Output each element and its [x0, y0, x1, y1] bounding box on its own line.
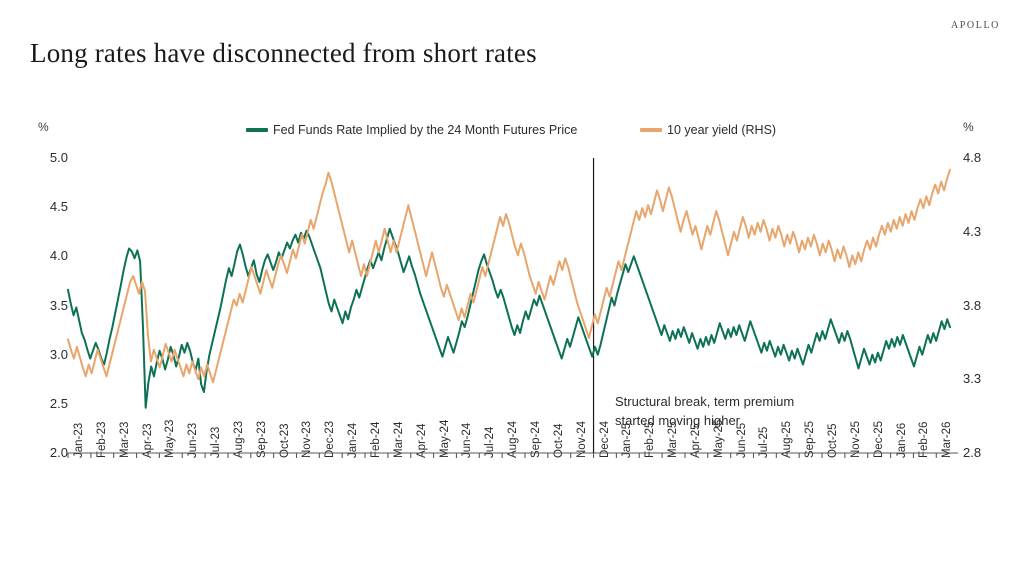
- series-line-ten-year: [68, 170, 950, 382]
- annotation-line-1: Structural break, term premium: [615, 393, 865, 412]
- chart-plot-area: [0, 0, 1024, 576]
- series-line-fed-funds: [68, 229, 950, 408]
- structural-break-annotation: Structural break, term premium started m…: [615, 393, 865, 431]
- annotation-line-2: started moving higher: [615, 412, 865, 431]
- chart-page: APOLLO Long rates have disconnected from…: [0, 0, 1024, 576]
